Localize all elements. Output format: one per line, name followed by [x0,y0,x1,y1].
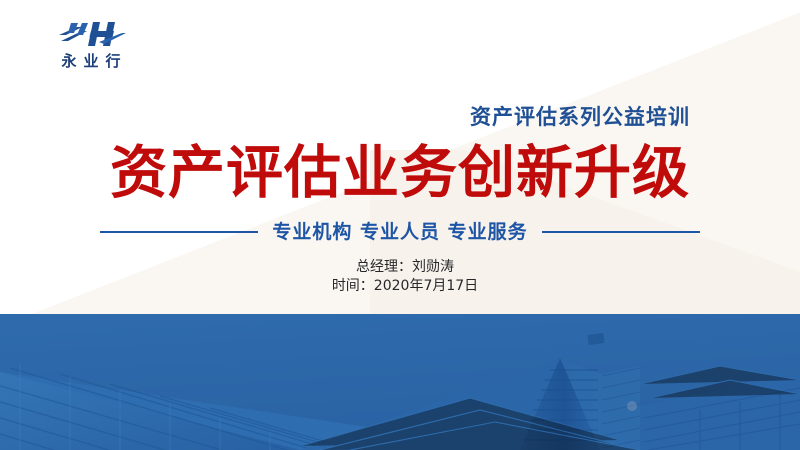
presenter-name-line: 总经理：刘勋涛 [0,258,800,277]
presenter-meta-block: 总经理：刘勋涛 时间：2020年7月17日 [0,258,800,296]
company-logo: 永业行 [36,20,146,82]
slide-main-title: 资产评估业务创新升级 [0,144,800,204]
tagline-row: 专业机构 专业人员 专业服务 [100,219,700,245]
company-wordmark: 永业行 [36,54,146,69]
presentation-date-line: 时间：2020年7月17日 [0,277,800,296]
footer-building-image [0,314,800,450]
tagline-rule-right [542,231,700,233]
presentation-slide: 永业行 资产评估系列公益培训 资产评估业务创新升级 专业机构 专业人员 专业服务… [0,0,800,450]
tagline-text: 专业机构 专业人员 专业服务 [272,223,527,242]
building-illustration-icon [0,314,800,450]
yh-monogram-logo-icon [56,20,126,50]
series-subtitle: 资产评估系列公益培训 [0,106,690,127]
tagline-rule-left [100,231,258,233]
